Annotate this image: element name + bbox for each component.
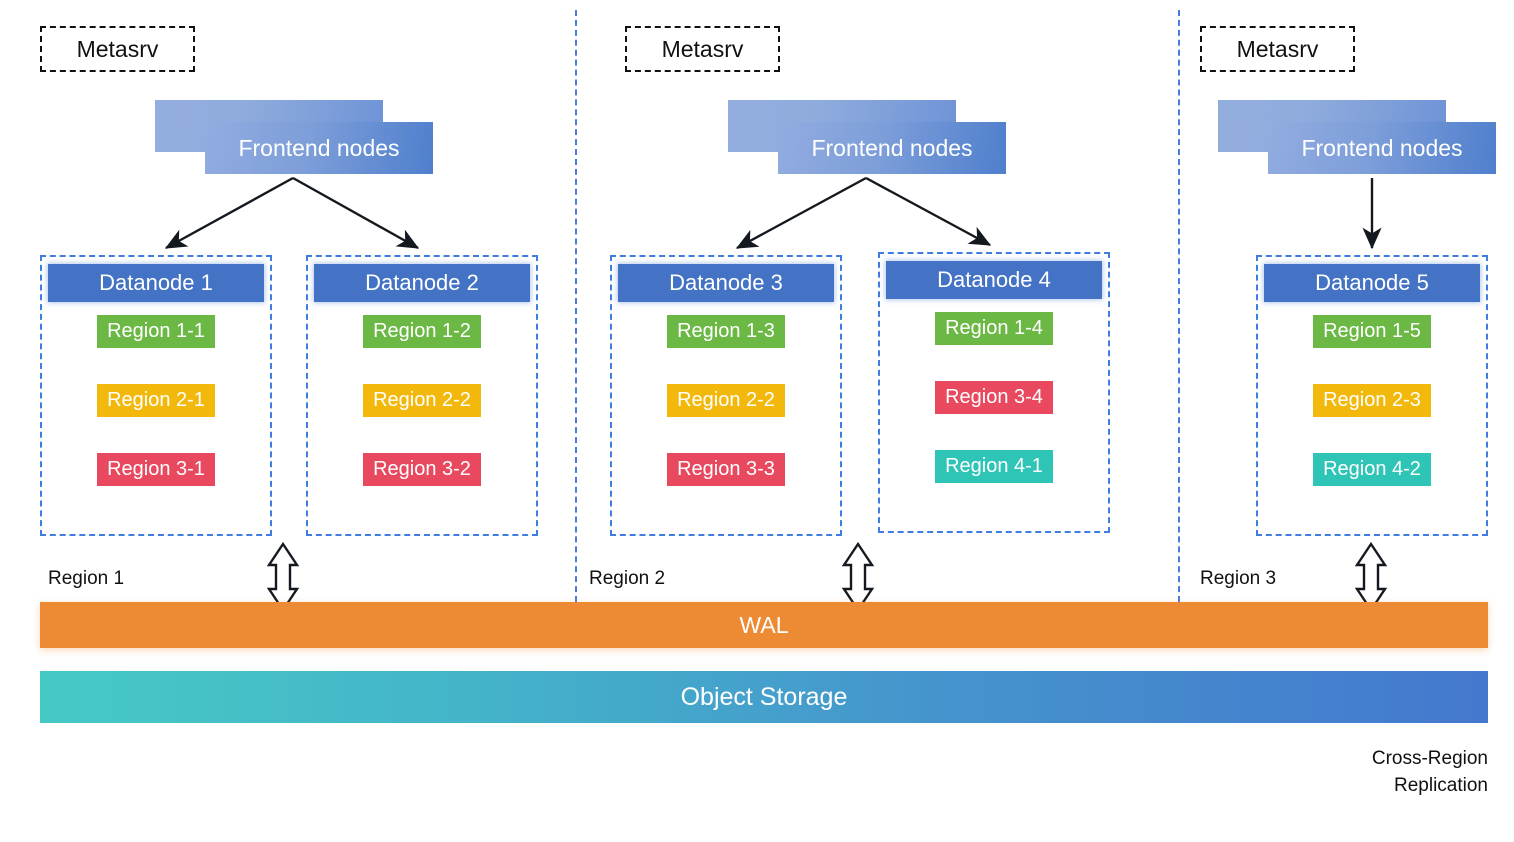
wal-bar: WAL bbox=[40, 602, 1488, 648]
region-chip: Region 3-4 bbox=[935, 381, 1053, 414]
wal-link-arrow-zone-1 bbox=[269, 544, 297, 610]
arrow-frontend-to-datanode-1 bbox=[166, 178, 293, 248]
region-chip: Region 3-3 bbox=[667, 453, 785, 486]
region-list-datanode-3: Region 1-3 Region 2-2 Region 3-3 bbox=[612, 315, 840, 522]
metasrv-label: Metasrv bbox=[1237, 36, 1319, 63]
wal-link-arrow-zone-3 bbox=[1357, 544, 1385, 610]
region-list-datanode-4: Region 1-4 Region 3-4 Region 4-1 bbox=[880, 312, 1108, 519]
datanode-box-datanode-5: Datanode 5 Region 1-5 Region 2-3 Region … bbox=[1256, 255, 1488, 536]
metasrv-box-zone-3: Metasrv bbox=[1200, 26, 1355, 72]
frontend-nodes-zone-1: Frontend nodes bbox=[155, 100, 435, 176]
frontend-nodes-zone-3: Frontend nodes bbox=[1218, 100, 1498, 176]
frontend-label: Frontend nodes bbox=[238, 135, 399, 162]
region-chip: Region 2-2 bbox=[363, 384, 481, 417]
object-storage-bar: Object Storage bbox=[40, 671, 1488, 723]
wal-label: WAL bbox=[740, 612, 789, 639]
region-list-datanode-5: Region 1-5 Region 2-3 Region 4-2 bbox=[1258, 315, 1486, 522]
cross-region-replication-caption: Cross-Region Replication bbox=[1190, 745, 1488, 799]
region-chip: Region 2-1 bbox=[97, 384, 215, 417]
region-chip: Region 4-2 bbox=[1313, 453, 1431, 486]
region-chip: Region 1-5 bbox=[1313, 315, 1431, 348]
datanode-title-text: Datanode 4 bbox=[937, 267, 1051, 293]
region-chip: Region 1-4 bbox=[935, 312, 1053, 345]
datanode-box-datanode-3: Datanode 3 Region 1-3 Region 2-2 Region … bbox=[610, 255, 842, 536]
region-list-datanode-1: Region 1-1 Region 2-1 Region 3-1 bbox=[42, 315, 270, 522]
region-chip: Region 2-3 bbox=[1313, 384, 1431, 417]
frontend-label: Frontend nodes bbox=[1301, 135, 1462, 162]
region-chip: Region 3-1 bbox=[97, 453, 215, 486]
arrow-frontend-to-datanode-3 bbox=[737, 178, 866, 248]
region-chip: Region 1-2 bbox=[363, 315, 481, 348]
architecture-diagram: Metasrv Frontend nodes Datanode 1 Region… bbox=[0, 0, 1514, 842]
cross-region-line-2: Replication bbox=[1190, 772, 1488, 799]
frontend-stack-front: Frontend nodes bbox=[778, 122, 1006, 174]
frontend-stack-front: Frontend nodes bbox=[1268, 122, 1496, 174]
datanode-title-datanode-2: Datanode 2 bbox=[314, 264, 530, 302]
datanode-title-text: Datanode 2 bbox=[365, 270, 479, 296]
zone-divider-2 bbox=[1178, 10, 1180, 602]
region-chip: Region 1-3 bbox=[667, 315, 785, 348]
cross-region-line-1: Cross-Region bbox=[1190, 745, 1488, 772]
zone-label-region-3: Region 3 bbox=[1200, 568, 1276, 590]
datanode-title-datanode-4: Datanode 4 bbox=[886, 261, 1102, 299]
region-chip: Region 1-1 bbox=[97, 315, 215, 348]
arrow-frontend-to-datanode-2 bbox=[293, 178, 418, 248]
datanode-title-datanode-5: Datanode 5 bbox=[1264, 264, 1480, 302]
metasrv-box-zone-2: Metasrv bbox=[625, 26, 780, 72]
metasrv-label: Metasrv bbox=[77, 36, 159, 63]
frontend-stack-front: Frontend nodes bbox=[205, 122, 433, 174]
frontend-label: Frontend nodes bbox=[811, 135, 972, 162]
region-list-datanode-2: Region 1-2 Region 2-2 Region 3-2 bbox=[308, 315, 536, 522]
region-chip: Region 4-1 bbox=[935, 450, 1053, 483]
arrow-frontend-to-datanode-4 bbox=[866, 178, 990, 245]
datanode-title-text: Datanode 1 bbox=[99, 270, 213, 296]
zone-divider-1 bbox=[575, 10, 577, 602]
datanode-box-datanode-4: Datanode 4 Region 1-4 Region 3-4 Region … bbox=[878, 252, 1110, 533]
datanode-box-datanode-2: Datanode 2 Region 1-2 Region 2-2 Region … bbox=[306, 255, 538, 536]
frontend-nodes-zone-2: Frontend nodes bbox=[728, 100, 1008, 176]
object-storage-label: Object Storage bbox=[681, 683, 848, 712]
metasrv-box-zone-1: Metasrv bbox=[40, 26, 195, 72]
datanode-title-datanode-3: Datanode 3 bbox=[618, 264, 834, 302]
datanode-title-text: Datanode 3 bbox=[669, 270, 783, 296]
metasrv-label: Metasrv bbox=[662, 36, 744, 63]
datanode-title-text: Datanode 5 bbox=[1315, 270, 1429, 296]
zone-label-region-1: Region 1 bbox=[48, 568, 124, 590]
datanode-title-datanode-1: Datanode 1 bbox=[48, 264, 264, 302]
datanode-box-datanode-1: Datanode 1 Region 1-1 Region 2-1 Region … bbox=[40, 255, 272, 536]
wal-link-arrow-zone-2 bbox=[844, 544, 872, 610]
region-chip: Region 2-2 bbox=[667, 384, 785, 417]
zone-label-region-2: Region 2 bbox=[589, 568, 665, 590]
region-chip: Region 3-2 bbox=[363, 453, 481, 486]
